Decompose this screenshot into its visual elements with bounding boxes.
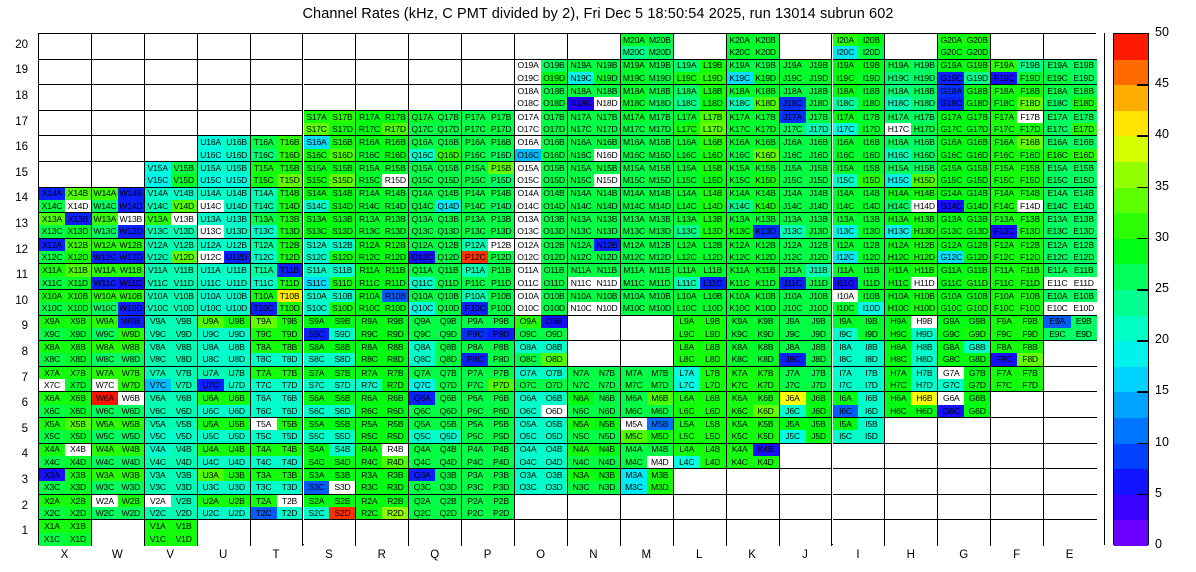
channel-R16C: R16C: [356, 149, 382, 161]
channel-I20D: I20D: [858, 46, 884, 58]
channel-K4D: K4D: [753, 456, 779, 468]
channel-S10A: S10A: [304, 290, 330, 302]
heatmap-cell-V4: V4AV4BV4CV4D: [145, 444, 198, 470]
channel-J9A: J9A: [780, 316, 806, 328]
channel-F13B: F13B: [1017, 213, 1043, 225]
channel-F11C: F11C: [991, 277, 1017, 289]
heatmap-cell-S16: S16AS16BS16CS16D: [304, 136, 357, 162]
channel-O17C: O17C: [515, 123, 541, 135]
channel-K13D: K13D: [753, 225, 779, 237]
channel-V2C: V2C: [145, 507, 171, 519]
channel-S15A: S15A: [304, 162, 330, 174]
channel-T3B: T3B: [277, 469, 303, 481]
channel-E17B: E17B: [1071, 111, 1097, 123]
heatmap-cell-S17: S17AS17BS17CS17D: [304, 111, 357, 137]
channel-K10C: K10C: [727, 302, 753, 314]
heatmap-cell-H15: H15AH15BH15CH15D: [885, 162, 938, 188]
channel-O14C: O14C: [515, 200, 541, 212]
channel-O4A: O4A: [515, 444, 541, 456]
channel-X14B: X14B: [65, 188, 91, 200]
heatmap-cell-Q13: Q13AQ13BQ13CQ13D: [409, 213, 462, 239]
channel-J13C: J13C: [780, 225, 806, 237]
channel-M17A: M17A: [621, 111, 647, 123]
heatmap-cell-E10: E10AE10BE10CE10D: [1044, 290, 1097, 316]
channel-T3A: T3A: [251, 469, 277, 481]
channel-S3C: S3C: [304, 481, 330, 493]
channel-T8A: T8A: [251, 341, 277, 353]
channel-U6C: U6C: [198, 405, 224, 417]
channel-J9D: J9D: [806, 328, 832, 340]
channel-N6C: N6C: [568, 405, 594, 417]
heatmap-cell-P4: P4AP4BP4CP4D: [462, 444, 515, 470]
channel-J7C: J7C: [780, 379, 806, 391]
heatmap-cell-O18: O18AO18BO18CO18D: [515, 85, 568, 111]
channel-V9C: V9C: [145, 328, 171, 340]
channel-F15C: F15C: [991, 174, 1017, 186]
heatmap-cell-R20: [356, 34, 409, 60]
channel-L4D: L4D: [700, 456, 726, 468]
channel-O14A: O14A: [515, 188, 541, 200]
channel-G11B: G11B: [964, 264, 990, 276]
heatmap-cell-J17: J17AJ17BJ17CJ17D: [780, 111, 833, 137]
channel-P10C: P10C: [462, 302, 488, 314]
heatmap-cell-F14: F14AF14BF14CF14D: [991, 188, 1044, 214]
channel-S6A: S6A: [304, 392, 330, 404]
heatmap-cell-X15: [39, 162, 92, 188]
heatmap-cell-R6: R6AR6BR6CR6D: [356, 392, 409, 418]
heatmap-cell-K12: K12AK12BK12CK12D: [727, 239, 780, 265]
channel-H16C: H16C: [885, 149, 911, 161]
heatmap-cell-E7: [1044, 367, 1097, 393]
channel-H17D: H17D: [911, 123, 937, 135]
channel-F9A: F9A: [991, 316, 1017, 328]
heatmap-cell-Q14: Q14AQ14BQ14CQ14D: [409, 188, 462, 214]
channel-K10B: K10B: [753, 290, 779, 302]
heatmap-cell-K16: K16AK16BK16CK16D: [727, 136, 780, 162]
channel-I17D: I17D: [858, 123, 884, 135]
channel-N18A: N18A: [568, 85, 594, 97]
channel-P6D: P6D: [488, 405, 514, 417]
channel-U4B: U4B: [224, 444, 250, 456]
heatmap-cell-S20: [304, 34, 357, 60]
channel-O16D: O16D: [541, 149, 567, 161]
channel-E17D: E17D: [1071, 123, 1097, 135]
channel-H18C: H18C: [885, 97, 911, 109]
channel-R17C: R17C: [356, 123, 382, 135]
heatmap-cell-T2: T2AT2BT2CT2D: [251, 495, 304, 521]
channel-O9D: O9D: [541, 328, 567, 340]
channel-M11D: M11D: [647, 277, 673, 289]
channel-S15C: S15C: [304, 174, 330, 186]
channel-J5A: J5A: [780, 418, 806, 430]
heatmap-plot: M20AM20BM20CM20DK20AK20BK20CK20DI20AI20B…: [38, 33, 1096, 545]
channel-O13C: O13C: [515, 225, 541, 237]
channel-G18A: G18A: [938, 85, 964, 97]
channel-J6A: J6A: [780, 392, 806, 404]
channel-S6C: S6C: [304, 405, 330, 417]
channel-M20C: M20C: [621, 46, 647, 58]
channel-Q16B: Q16B: [435, 136, 461, 148]
heatmap-cell-V10: V10AV10BV10CV10D: [145, 290, 198, 316]
channel-W4D: W4D: [118, 456, 144, 468]
channel-H12C: H12C: [885, 251, 911, 263]
channel-N13D: N13D: [594, 225, 620, 237]
channel-K20C: K20C: [727, 46, 753, 58]
channel-W13A: W13A: [92, 213, 118, 225]
channel-G20B: G20B: [964, 34, 990, 46]
heatmap-cell-T5: T5AT5BT5CT5D: [251, 418, 304, 444]
channel-R3B: R3B: [382, 469, 408, 481]
channel-P9B: P9B: [488, 316, 514, 328]
channel-U9B: U9B: [224, 316, 250, 328]
heatmap-cell-K5: K5AK5BK5CK5D: [727, 418, 780, 444]
channel-G15D: G15D: [964, 174, 990, 186]
channel-J6C: J6C: [780, 405, 806, 417]
channel-V10D: V10D: [171, 302, 197, 314]
heatmap-cell-I17: I17AI17BI17CI17D: [833, 111, 886, 137]
channel-N13C: N13C: [568, 225, 594, 237]
channel-L9A: L9A: [674, 316, 700, 328]
channel-M7D: M7D: [647, 379, 673, 391]
channel-T9B: T9B: [277, 316, 303, 328]
channel-H10A: H10A: [885, 290, 911, 302]
channel-V14C: V14C: [145, 200, 171, 212]
channel-L4C: L4C: [674, 456, 700, 468]
channel-F11B: F11B: [1017, 264, 1043, 276]
channel-U14B: U14B: [224, 188, 250, 200]
heatmap-cell-E20: [1044, 34, 1097, 60]
channel-O3C: O3C: [515, 481, 541, 493]
channel-L10B: L10B: [700, 290, 726, 302]
heatmap-cell-K18: K18AK18BK18CK18D: [727, 85, 780, 111]
heatmap-cell-W19: [92, 60, 145, 86]
channel-T10B: T10B: [277, 290, 303, 302]
y-axis-label-20: 20: [2, 39, 28, 51]
channel-V5C: V5C: [145, 430, 171, 442]
channel-W4A: W4A: [92, 444, 118, 456]
channel-L10C: L10C: [674, 302, 700, 314]
channel-Q17D: Q17D: [435, 123, 461, 135]
channel-M7A: M7A: [621, 367, 647, 379]
heatmap-cell-L13: L13AL13BL13CL13D: [674, 213, 727, 239]
channel-S2D: S2D: [329, 507, 355, 519]
channel-R8A: R8A: [356, 341, 382, 353]
channel-N7C: N7C: [568, 379, 594, 391]
channel-V2A: V2A: [145, 495, 171, 507]
channel-K4B: K4B: [753, 444, 779, 456]
heatmap-cell-U19: [198, 60, 251, 86]
channel-Q2A: Q2A: [409, 495, 435, 507]
channel-J18B: J18B: [806, 85, 832, 97]
channel-O6B: O6B: [541, 392, 567, 404]
channel-Q4A: Q4A: [409, 444, 435, 456]
heatmap-cell-R8: R8AR8BR8CR8D: [356, 341, 409, 367]
heatmap-cell-J20: [780, 34, 833, 60]
heatmap-cell-G20: G20AG20BG20CG20D: [938, 34, 991, 60]
heatmap-cell-I13: I13AI13BI13CI13D: [833, 213, 886, 239]
channel-N19B: N19B: [594, 60, 620, 72]
channel-X14A: X14A: [39, 188, 65, 200]
channel-H7C: H7C: [885, 379, 911, 391]
channel-H18B: H18B: [911, 85, 937, 97]
channel-T2A: T2A: [251, 495, 277, 507]
channel-I13B: I13B: [858, 213, 884, 225]
channel-S12D: S12D: [329, 251, 355, 263]
heatmap-cell-E17: E17AE17BE17CE17D: [1044, 111, 1097, 137]
channel-O17A: O17A: [515, 111, 541, 123]
channel-K9C: K9C: [727, 328, 753, 340]
heatmap-cell-Q15: Q15AQ15BQ15CQ15D: [409, 162, 462, 188]
channel-F13A: F13A: [991, 213, 1017, 225]
channel-M4B: M4B: [647, 444, 673, 456]
x-axis-label-F: F: [990, 549, 1043, 561]
channel-N12A: N12A: [568, 239, 594, 251]
channel-R4B: R4B: [382, 444, 408, 456]
channel-W2C: W2C: [92, 507, 118, 519]
channel-K19D: K19D: [753, 72, 779, 84]
heatmap-grid: M20AM20BM20CM20DK20AK20BK20CK20DI20AI20B…: [38, 33, 1096, 545]
channel-R3A: R3A: [356, 469, 382, 481]
x-axis-label-T: T: [250, 549, 303, 561]
heatmap-cell-Q17: Q17AQ17BQ17CQ17D: [409, 111, 462, 137]
channel-Q16C: Q16C: [409, 149, 435, 161]
channel-H14B: H14B: [911, 188, 937, 200]
channel-W2D: W2D: [118, 507, 144, 519]
channel-J12D: J12D: [806, 251, 832, 263]
channel-I5D: I5D: [858, 430, 884, 442]
channel-T6C: T6C: [251, 405, 277, 417]
channel-G8D: G8D: [964, 353, 990, 365]
colorbar-ticks: 05101520253035404550: [1113, 33, 1193, 545]
channel-N4A: N4A: [568, 444, 594, 456]
channel-P4D: P4D: [488, 456, 514, 468]
channel-I7A: I7A: [833, 367, 859, 379]
heatmap-cell-O7: O7AO7BO7CO7D: [515, 367, 568, 393]
channel-X3C: X3C: [39, 481, 65, 493]
channel-N10B: N10B: [594, 290, 620, 302]
channel-M16A: M16A: [621, 136, 647, 148]
heatmap-cell-N12: N12AN12BN12CN12D: [568, 239, 621, 265]
heatmap-cell-O9: O9AO9BO9CO9D: [515, 316, 568, 342]
channel-V12C: V12C: [145, 251, 171, 263]
heatmap-cell-F9: F9AF9BF9CF9D: [991, 316, 1044, 342]
channel-T15C: T15C: [251, 174, 277, 186]
channel-W13D: W13D: [118, 225, 144, 237]
channel-K9B: K9B: [753, 316, 779, 328]
y-axis-label-12: 12: [2, 244, 28, 256]
heatmap-cell-E12: E12AE12BE12CE12D: [1044, 239, 1097, 265]
x-axis-label-I: I: [832, 549, 885, 561]
channel-R10D: R10D: [382, 302, 408, 314]
channel-N3B: N3B: [594, 469, 620, 481]
channel-Q14D: Q14D: [435, 200, 461, 212]
heatmap-cell-O20: [515, 34, 568, 60]
channel-W6D: W6D: [118, 405, 144, 417]
channel-R9B: R9B: [382, 316, 408, 328]
channel-F19D: F19D: [1017, 72, 1043, 84]
heatmap-cell-X13: X13AX13BX13CX13D: [39, 213, 92, 239]
channel-X6C: X6C: [39, 405, 65, 417]
heatmap-cell-P11: P11AP11BP11CP11D: [462, 264, 515, 290]
heatmap-cell-O4: O4AO4BO4CO4D: [515, 444, 568, 470]
heatmap-cell-H17: H17AH17BH17CH17D: [885, 111, 938, 137]
channel-M17D: M17D: [647, 123, 673, 135]
heatmap-cell-I12: I12AI12BI12CI12D: [833, 239, 886, 265]
channel-P7D: P7D: [488, 379, 514, 391]
heatmap-cell-W3: W3AW3BW3CW3D: [92, 469, 145, 495]
channel-T12C: T12C: [251, 251, 277, 263]
channel-L19A: L19A: [674, 60, 700, 72]
channel-K14B: K14B: [753, 188, 779, 200]
channel-V8A: V8A: [145, 341, 171, 353]
heatmap-cell-N7: N7AN7BN7CN7D: [568, 367, 621, 393]
channel-N16A: N16A: [568, 136, 594, 148]
channel-F7A: F7A: [991, 367, 1017, 379]
channel-K20B: K20B: [753, 34, 779, 46]
channel-H17A: H17A: [885, 111, 911, 123]
channel-G7C: G7C: [938, 379, 964, 391]
heatmap-cell-V1: V1AV1BV1CV1D: [145, 520, 198, 546]
channel-O16C: O16C: [515, 149, 541, 161]
channel-H10B: H10B: [911, 290, 937, 302]
colorbar-tick-label-5: 5: [1155, 486, 1162, 500]
heatmap-cell-N20: [568, 34, 621, 60]
heatmap-cell-N15: N15AN15BN15CN15D: [568, 162, 621, 188]
channel-L7B: L7B: [700, 367, 726, 379]
channel-U16D: U16D: [224, 149, 250, 161]
channel-O15D: O15D: [541, 174, 567, 186]
channel-H9B: H9B: [911, 316, 937, 328]
channel-I12B: I12B: [858, 239, 884, 251]
channel-J17B: J17B: [806, 111, 832, 123]
heatmap-cell-N11: N11AN11BN11CN11D: [568, 264, 621, 290]
channel-O8A: O8A: [515, 341, 541, 353]
channel-U2C: U2C: [198, 507, 224, 519]
heatmap-cell-U7: U7AU7BU7CU7D: [198, 367, 251, 393]
channel-S9D: S9D: [329, 328, 355, 340]
heatmap-cell-M6: M6AM6BM6CM6D: [621, 392, 674, 418]
channel-S9B: S9B: [329, 316, 355, 328]
channel-R2A: R2A: [356, 495, 382, 507]
channel-O10B: O10B: [541, 290, 567, 302]
channel-I19D: I19D: [858, 72, 884, 84]
channel-L14D: L14D: [700, 200, 726, 212]
heatmap-cell-J6: J6AJ6BJ6CJ6D: [780, 392, 833, 418]
channel-O5C: O5C: [515, 430, 541, 442]
channel-X10A: X10A: [39, 290, 65, 302]
channel-H13B: H13B: [911, 213, 937, 225]
heatmap-cell-F10: F10AF10BF10CF10D: [991, 290, 1044, 316]
channel-F10B: F10B: [1017, 290, 1043, 302]
heatmap-cell-T3: T3AT3BT3CT3D: [251, 469, 304, 495]
channel-N7B: N7B: [594, 367, 620, 379]
channel-M19C: M19C: [621, 72, 647, 84]
channel-E18B: E18B: [1071, 85, 1097, 97]
channel-J15A: J15A: [780, 162, 806, 174]
channel-R8D: R8D: [382, 353, 408, 365]
heatmap-cell-R19: [356, 60, 409, 86]
channel-R6D: R6D: [382, 405, 408, 417]
heatmap-cell-I18: I18AI18BI18CI18D: [833, 85, 886, 111]
heatmap-cell-M3: M3AM3BM3CM3D: [621, 469, 674, 495]
channel-H17B: H17B: [911, 111, 937, 123]
heatmap-cell-P15: P15AP15BP15CP15D: [462, 162, 515, 188]
channel-T16A: T16A: [251, 136, 277, 148]
channel-U15B: U15B: [224, 162, 250, 174]
channel-K13A: K13A: [727, 213, 753, 225]
channel-V11A: V11A: [145, 264, 171, 276]
channel-P4C: P4C: [462, 456, 488, 468]
channel-H15B: H15B: [911, 162, 937, 174]
channel-G9D: G9D: [964, 328, 990, 340]
heatmap-cell-N16: N16AN16BN16CN16D: [568, 136, 621, 162]
channel-G6B: G6B: [964, 392, 990, 404]
channel-T2B: T2B: [277, 495, 303, 507]
channel-F14B: F14B: [1017, 188, 1043, 200]
channel-H8D: H8D: [911, 353, 937, 365]
y-axis-label-10: 10: [2, 295, 28, 307]
channel-O5B: O5B: [541, 418, 567, 430]
heatmap-cell-I9: I9AI9BI9CI9D: [833, 316, 886, 342]
channel-S10C: S10C: [304, 302, 330, 314]
heatmap-cell-G13: G13AG13BG13CG13D: [938, 213, 991, 239]
channel-K18A: K18A: [727, 85, 753, 97]
channel-P13C: P13C: [462, 225, 488, 237]
channel-J8B: J8B: [806, 341, 832, 353]
channel-G20A: G20A: [938, 34, 964, 46]
channel-E16B: E16B: [1071, 136, 1097, 148]
channel-E19D: E19D: [1071, 72, 1097, 84]
channel-Q12B: Q12B: [435, 239, 461, 251]
channel-X10C: X10C: [39, 302, 65, 314]
channel-P9D: P9D: [488, 328, 514, 340]
heatmap-cell-R13: R13AR13BR13CR13D: [356, 213, 409, 239]
channel-M13C: M13C: [621, 225, 647, 237]
channel-N15B: N15B: [594, 162, 620, 174]
channel-J19A: J19A: [780, 60, 806, 72]
channel-G15B: G15B: [964, 162, 990, 174]
heatmap-cell-W10: W10AW10BW10CW10D: [92, 290, 145, 316]
channel-V9D: V9D: [171, 328, 197, 340]
channel-V1B: V1B: [171, 520, 197, 533]
channel-P13A: P13A: [462, 213, 488, 225]
channel-J14C: J14C: [780, 200, 806, 212]
channel-P2C: P2C: [462, 507, 488, 519]
x-axis-label-W: W: [91, 549, 144, 561]
channel-J18C: J18C: [780, 97, 806, 109]
y-axis-label-6: 6: [2, 397, 28, 409]
channel-F14D: F14D: [1017, 200, 1043, 212]
heatmap-cell-G17: G17AG17BG17CG17D: [938, 111, 991, 137]
channel-L13D: L13D: [700, 225, 726, 237]
channel-E19B: E19B: [1071, 60, 1097, 72]
channel-X8C: X8C: [39, 353, 65, 365]
channel-M15D: M15D: [647, 174, 673, 186]
channel-F17C: F17C: [991, 123, 1017, 135]
channel-E16C: E16C: [1044, 149, 1070, 161]
channel-G6A: G6A: [938, 392, 964, 404]
channel-U5A: U5A: [198, 418, 224, 430]
channel-M3C: M3C: [621, 481, 647, 493]
channel-W11A: W11A: [92, 264, 118, 276]
heatmap-cell-R11: R11AR11BR11CR11D: [356, 264, 409, 290]
channel-T12D: T12D: [277, 251, 303, 263]
colorbar-tick-mark: [1137, 238, 1149, 240]
channel-T5B: T5B: [277, 418, 303, 430]
heatmap-cell-H7: H7AH7BH7CH7D: [885, 367, 938, 393]
heatmap-cell-K19: K19AK19BK19CK19D: [727, 60, 780, 86]
channel-I20C: I20C: [833, 46, 859, 58]
